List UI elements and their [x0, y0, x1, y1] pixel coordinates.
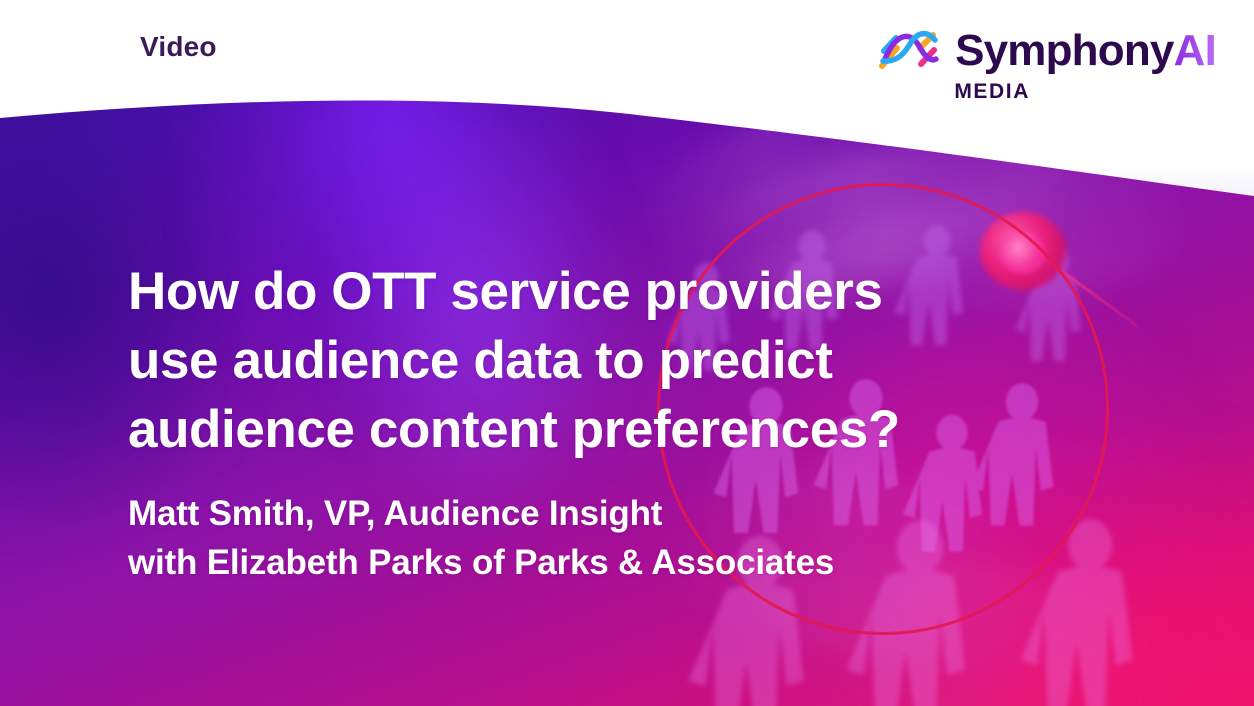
speaker-byline: Matt Smith, VP, Audience Insight with El… [128, 489, 1208, 588]
logo-wordmark: SymphonyAI [955, 29, 1216, 73]
byline-line-2: with Elizabeth Parks of Parks & Associat… [128, 538, 1208, 588]
logo-word-symphony: Symphony [955, 26, 1174, 75]
headline-line-2: use audience data to predict [128, 327, 1208, 396]
symphonyai-ribbon-mark-icon [877, 26, 939, 76]
headline-line-3: audience content preferences? [128, 396, 1208, 465]
content-type-label: Video [140, 31, 217, 63]
video-title-card: Video SymphonyAI MEDIA How do OTT servic… [0, 0, 1254, 706]
brand-logo[interactable]: SymphonyAI MEDIA [877, 26, 1216, 104]
headline-line-1: How do OTT service providers [128, 258, 1208, 327]
logo-division-label: MEDIA [954, 80, 1030, 104]
page-title: How do OTT service providers use audienc… [128, 258, 1208, 465]
hero-copy: How do OTT service providers use audienc… [128, 258, 1208, 588]
logo-word-ai: AI [1174, 26, 1216, 75]
byline-line-1: Matt Smith, VP, Audience Insight [128, 489, 1208, 539]
logo-row: SymphonyAI [877, 26, 1216, 76]
